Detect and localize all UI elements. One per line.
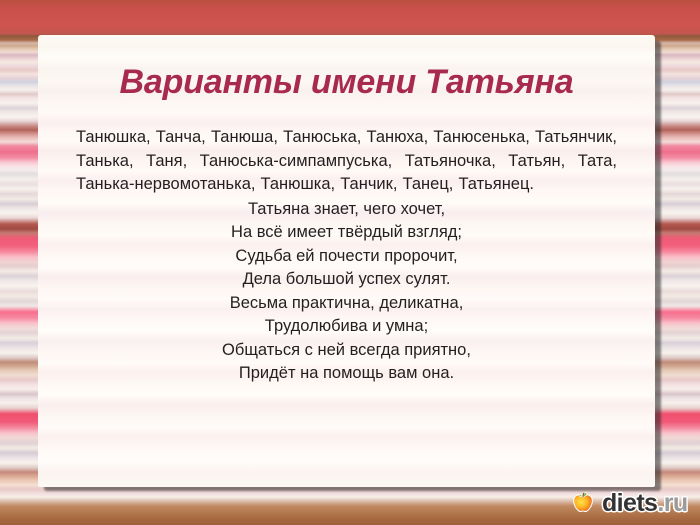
poem-line: Придёт на помощь вам она. bbox=[60, 362, 633, 386]
poem-line: На всё имеет твёрдый взгляд; bbox=[60, 221, 633, 245]
poem-block: Татьяна знает, чего хочет, На всё имеет … bbox=[60, 197, 633, 386]
content-card: Варианты имени Татьяна Танюшка, Танча, Т… bbox=[38, 35, 655, 487]
poem-line: Дела большой успех сулят. bbox=[60, 268, 633, 292]
page-title: Варианты имени Татьяна bbox=[60, 35, 633, 102]
content-card-inner: Варианты имени Татьяна Танюшка, Танча, Т… bbox=[38, 35, 655, 487]
slide-canvas: Варианты имени Татьяна Танюшка, Танча, Т… bbox=[0, 0, 700, 525]
apple-icon bbox=[568, 488, 598, 518]
poem-line: Татьяна знает, чего хочет, bbox=[60, 198, 633, 222]
name-variants-paragraph: Танюшка, Танча, Танюша, Танюська, Танюха… bbox=[60, 102, 633, 197]
poem-line: Трудолюбива и умна; bbox=[60, 315, 633, 339]
poem-line: Судьба ей почести пророчит, bbox=[60, 245, 633, 269]
watermark-text: diets.ru bbox=[602, 491, 688, 516]
watermark-tld: .ru bbox=[657, 489, 687, 517]
watermark-name: diets bbox=[602, 489, 657, 517]
watermark-diets-ru[interactable]: diets.ru bbox=[568, 484, 688, 522]
poem-line: Общаться с ней всегда приятно, bbox=[60, 339, 633, 363]
poem-line: Весьма практична, деликатна, bbox=[60, 292, 633, 316]
